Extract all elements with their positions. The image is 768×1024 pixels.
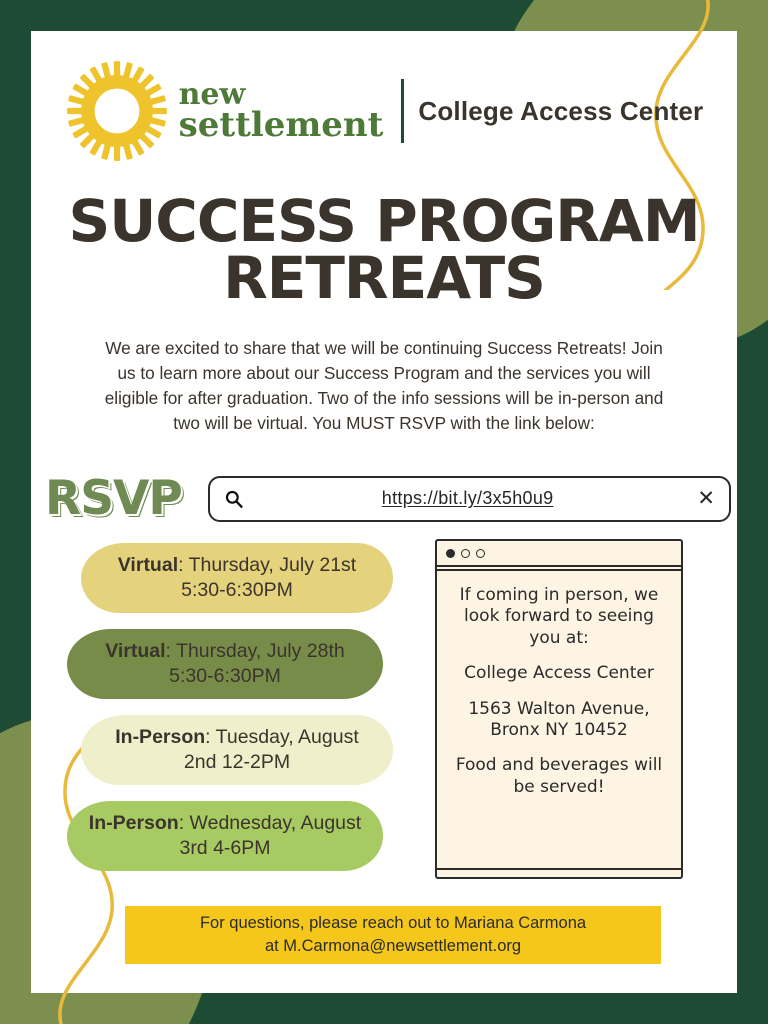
session-details: : Wednesday, August 3rd 4-6PM [179, 812, 361, 859]
close-icon[interactable]: ✕ [691, 488, 715, 509]
window-dot-maximize-icon [476, 549, 485, 558]
rsvp-label: RSVP [39, 471, 182, 526]
title-line-2: RETREATS [31, 250, 737, 307]
session-type: In-Person [115, 726, 205, 748]
brand-wordmark: new settlement [179, 81, 384, 142]
contact-line-1: For questions, please reach out to Maria… [200, 914, 586, 932]
rsvp-link[interactable]: https://bit.ly/3x5h0u9 [244, 488, 692, 509]
search-icon [224, 489, 244, 509]
header-logo-row: new settlement College Access Center [31, 59, 737, 163]
brand-line-2: settlement [179, 109, 384, 141]
session-details: : Thursday, July 28th 5:30-6:30PM [166, 640, 345, 687]
session-details: : Thursday, July 21st 5:30-6:30PM [178, 554, 356, 601]
location-card: If coming in person, we look forward to … [435, 539, 683, 879]
poster-content: new settlement College Access Center SUC… [31, 31, 737, 993]
card-note: Food and beverages will be served! [447, 755, 671, 798]
card-intro-text: If coming in person, we look forward to … [447, 585, 671, 649]
contact-banner: For questions, please reach out to Maria… [125, 906, 661, 964]
session-details: : Tuesday, August 2nd 12-2PM [184, 726, 359, 773]
page-title: SUCCESS PROGRAM RETREATS [31, 193, 737, 307]
contact-text: For questions, please reach out to Maria… [200, 912, 586, 958]
poster-canvas: new settlement College Access Center SUC… [0, 0, 768, 1024]
rsvp-row: RSVP https://bit.ly/3x5h0u9 ✕ [39, 471, 737, 526]
window-dot-close-icon [446, 549, 455, 558]
session-type: In-Person [89, 812, 179, 834]
program-name: College Access Center [418, 96, 703, 127]
window-dot-minimize-icon [461, 549, 470, 558]
card-venue-name: College Access Center [447, 663, 671, 684]
card-address: 1563 Walton Avenue, Bronx NY 10452 [447, 699, 671, 742]
session-list: Virtual: Thursday, July 21st 5:30-6:30PM… [59, 543, 409, 887]
list-item: In-Person: Wednesday, August 3rd 4-6PM [67, 801, 383, 871]
search-bar[interactable]: https://bit.ly/3x5h0u9 ✕ [208, 476, 731, 522]
sunburst-icon [65, 59, 169, 163]
session-type: Virtual [118, 554, 178, 576]
contact-line-2: at M.Carmona@newsettlement.org [265, 937, 521, 955]
list-item: Virtual: Thursday, July 21st 5:30-6:30PM [81, 543, 393, 613]
vertical-divider [401, 79, 404, 143]
session-type: Virtual [105, 640, 165, 662]
list-item: Virtual: Thursday, July 28th 5:30-6:30PM [67, 629, 383, 699]
card-footer-line [437, 868, 681, 873]
card-title-bar [437, 541, 681, 567]
list-item: In-Person: Tuesday, August 2nd 12-2PM [81, 715, 393, 785]
intro-paragraph: We are excited to share that we will be … [103, 336, 665, 436]
card-body: If coming in person, we look forward to … [437, 571, 681, 798]
